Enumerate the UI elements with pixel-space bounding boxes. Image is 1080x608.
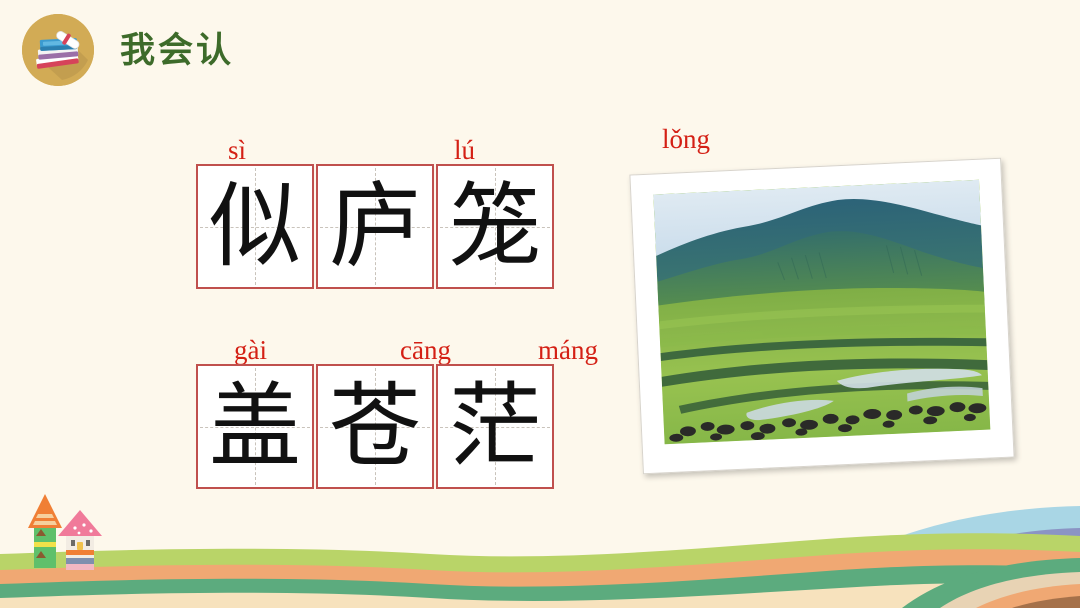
hanzi-glyph: 茫	[438, 366, 552, 487]
pinyin-label: lú	[454, 137, 475, 164]
green-tower-house	[28, 494, 62, 568]
character-grid-row-2: gài cāng máng 盖 苍 茫	[196, 318, 554, 489]
hanzi-cell[interactable]: 笼	[436, 164, 554, 289]
hanzi-glyph: 笼	[438, 166, 552, 287]
grassland-photo[interactable]	[629, 158, 1014, 475]
pinyin-label: máng	[538, 337, 598, 364]
pinyin-row-1: sì lú	[196, 118, 554, 164]
pinyin-label: gài	[234, 337, 267, 364]
slide-root: 我会认 sì lú 似 庐 笼 gài cāng máng 盖	[0, 0, 1080, 608]
hanzi-cell[interactable]: 苍	[316, 364, 434, 489]
pinyin-label: cāng	[400, 337, 451, 364]
bottom-wave-decoration	[0, 488, 1080, 608]
books-badge-icon	[22, 14, 94, 86]
hanzi-cell[interactable]: 似	[196, 164, 314, 289]
pinyin-row-2: gài cāng máng	[196, 318, 554, 364]
concentric-rainbow-arc	[786, 506, 1080, 608]
pinyin-label: sì	[228, 137, 246, 164]
hanzi-glyph: 庐	[318, 166, 432, 287]
slide-header: 我会认	[22, 14, 234, 86]
hanzi-cell[interactable]: 茫	[436, 364, 554, 489]
photo-frame	[629, 158, 1014, 475]
hanzi-glyph: 盖	[198, 366, 312, 487]
character-grid-row-1: sì lú 似 庐 笼	[196, 118, 554, 289]
hanzi-cell[interactable]: 盖	[196, 364, 314, 489]
hanzi-glyph: 似	[198, 166, 312, 287]
page-title: 我会认	[120, 33, 234, 68]
hanzi-glyph: 苍	[318, 366, 432, 487]
photo-pinyin-label: lǒng	[662, 126, 710, 153]
cartoon-houses-decoration	[18, 488, 128, 570]
pink-roof-house	[58, 510, 102, 570]
hanzi-grid: 似 庐 笼	[196, 164, 554, 289]
hanzi-cell[interactable]: 庐	[316, 164, 434, 289]
photo-image	[653, 180, 990, 445]
rainbow-inner-rings	[902, 558, 1080, 608]
hanzi-grid: 盖 苍 茫	[196, 364, 554, 489]
